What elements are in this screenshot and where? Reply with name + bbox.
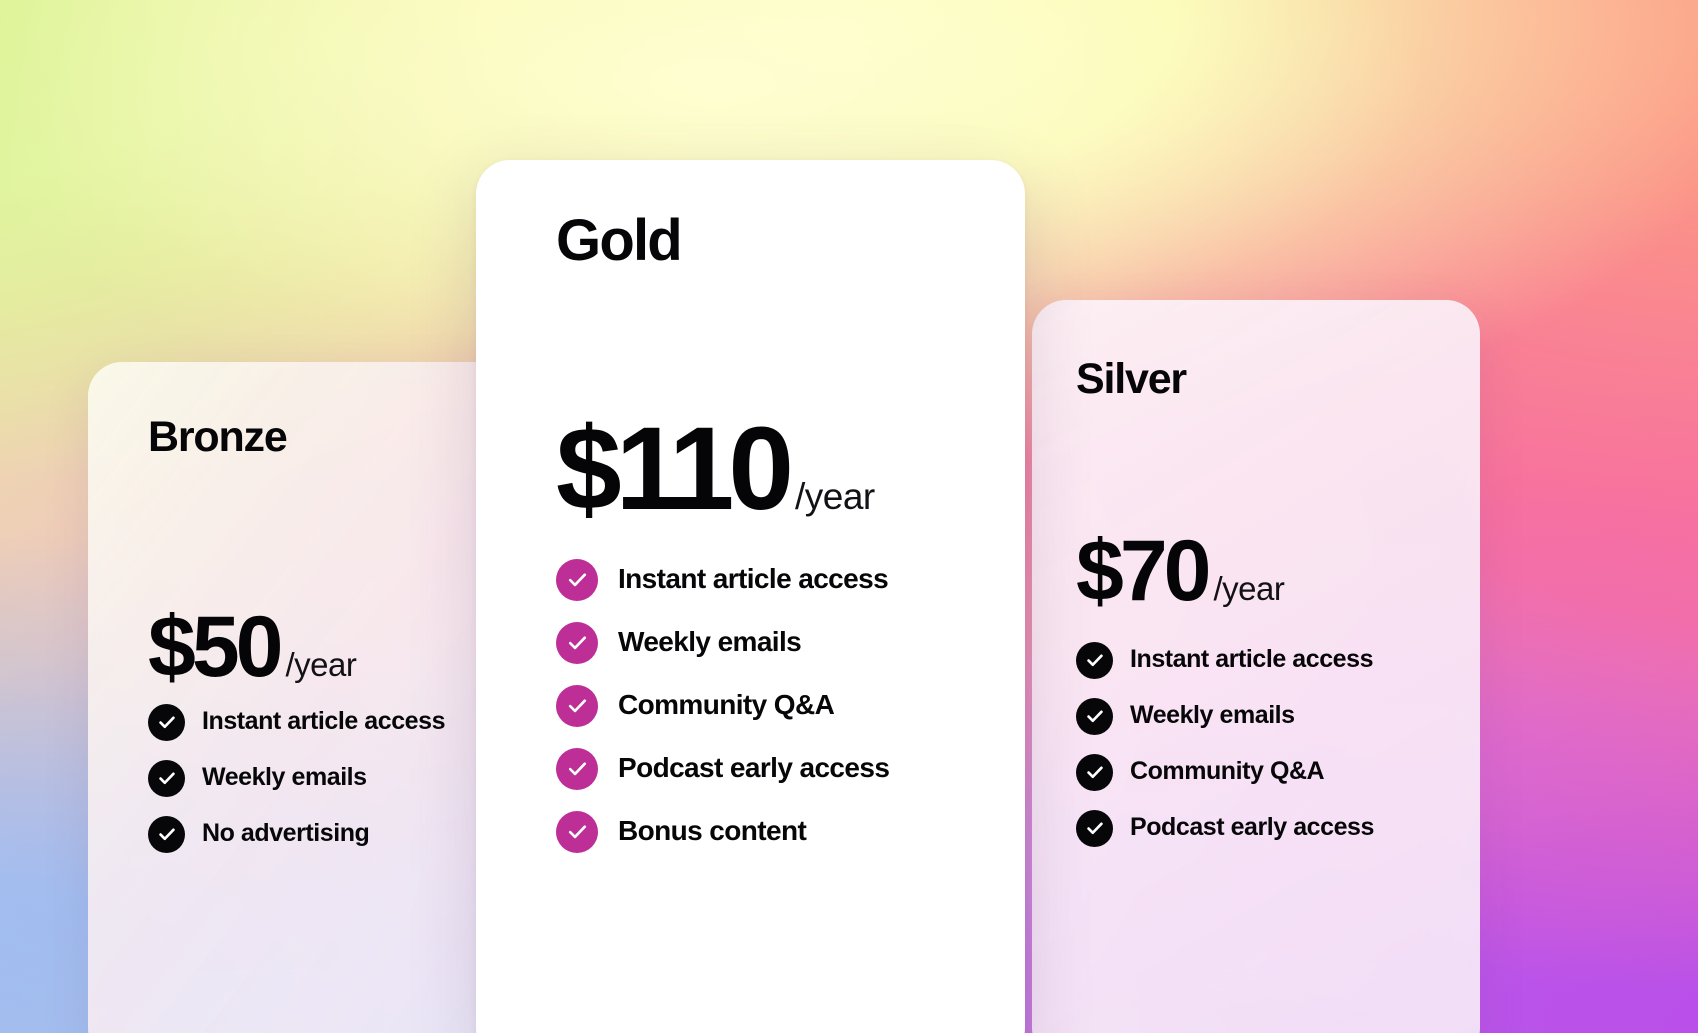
check-icon [148,704,185,741]
price-row-bronze: $50 /year [148,604,356,690]
pricing-card-gold[interactable]: Gold $110 /year Instant article access [476,160,1025,1033]
price-amount-bronze: $50 [148,604,280,690]
tier-name-silver: Silver [1076,358,1186,401]
feature-label: Weekly emails [202,764,367,792]
feature-label: Instant article access [202,708,445,736]
check-icon [148,816,185,853]
list-item: Bonus content [556,800,889,863]
check-icon [1076,698,1113,735]
tier-name-gold: Gold [556,212,681,270]
price-row-gold: $110 /year [556,410,875,528]
pricing-card-bronze[interactable]: Bronze $50 /year Instant article access [88,362,540,1033]
check-icon [148,760,185,797]
price-row-silver: $70 /year [1076,528,1284,614]
price-period-bronze: /year [286,646,357,684]
feature-label: Podcast early access [1130,814,1374,842]
list-item: Weekly emails [1076,688,1374,744]
list-item: No advertising [148,806,445,862]
feature-list-gold: Instant article access Weekly emails Com… [556,548,889,863]
feature-label: Podcast early access [618,753,889,784]
price-amount-gold: $110 [556,410,788,528]
list-item: Podcast early access [556,737,889,800]
check-icon [1076,754,1113,791]
check-icon [1076,810,1113,847]
feature-label: Community Q&A [1130,758,1324,786]
check-icon [556,622,598,664]
check-icon [1076,642,1113,679]
list-item: Podcast early access [1076,800,1374,856]
feature-label: Bonus content [618,816,806,847]
list-item: Instant article access [148,694,445,750]
check-icon [556,811,598,853]
check-icon [556,685,598,727]
feature-label: Instant article access [618,564,888,595]
list-item: Weekly emails [556,611,889,674]
feature-label: Weekly emails [1130,702,1295,730]
list-item: Instant article access [556,548,889,611]
feature-label: Weekly emails [618,627,801,658]
pricing-card-silver[interactable]: Silver $70 /year Instant article access [1032,300,1480,1033]
price-amount-silver: $70 [1076,528,1208,614]
check-icon [556,748,598,790]
price-period-silver: /year [1214,570,1285,608]
feature-label: Instant article access [1130,646,1373,674]
tier-name-bronze: Bronze [148,416,287,459]
price-period-gold: /year [795,476,875,518]
list-item: Community Q&A [556,674,889,737]
pricing-page: Bronze $50 /year Instant article access [0,0,1698,1033]
feature-list-silver: Instant article access Weekly emails Com… [1076,632,1374,856]
feature-label: Community Q&A [618,690,834,721]
feature-label: No advertising [202,820,369,848]
list-item: Community Q&A [1076,744,1374,800]
check-icon [556,559,598,601]
list-item: Weekly emails [148,750,445,806]
list-item: Instant article access [1076,632,1374,688]
feature-list-bronze: Instant article access Weekly emails No … [148,694,445,862]
